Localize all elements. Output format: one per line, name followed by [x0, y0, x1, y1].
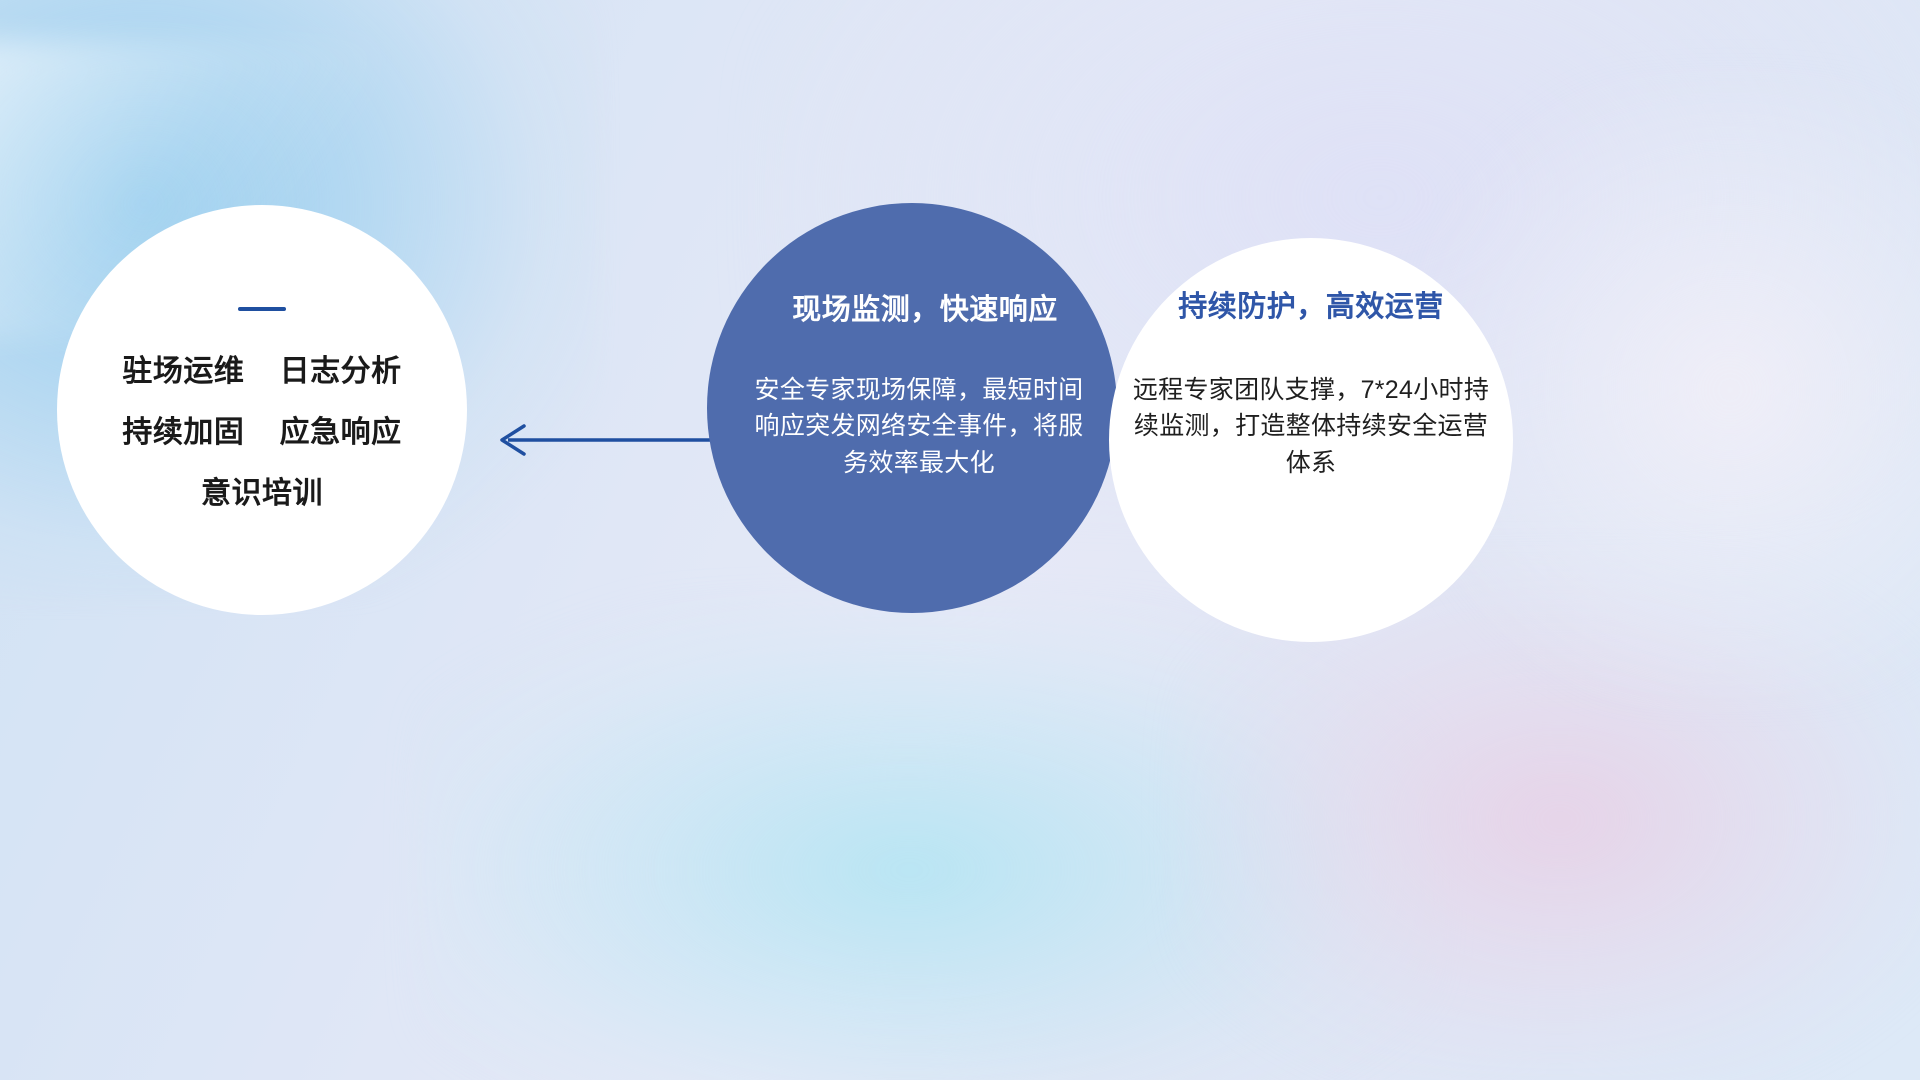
middle-circle-title: 现场监测，快速响应 — [755, 295, 1095, 327]
middle-onsite-circle: 现场监测，快速响应 安全专家现场保障，最短时间响应突发网络安全事件，将服务效率最… — [707, 203, 1117, 613]
slide-canvas: 驻场运维 日志分析 持续加固 应急响应 意识培训 现场监测，快速响应 安全专家现… — [0, 0, 1920, 1080]
right-circle-title: 持续防护，高效运营 — [1123, 292, 1499, 324]
right-circle-content: 持续防护，高效运营 远程专家团队支撑，7*24小时持续监测，打造整体持续安全运营… — [1109, 292, 1513, 481]
left-circle-line-1: 驻场运维 日志分析 — [79, 357, 445, 387]
left-capability-circle: 驻场运维 日志分析 持续加固 应急响应 意识培训 — [57, 205, 467, 615]
accent-rule-divider — [238, 307, 286, 311]
arrow-left-icon — [480, 416, 730, 464]
right-circle-body: 远程专家团队支撑，7*24小时持续监测，打造整体持续安全运营体系 — [1123, 372, 1499, 482]
left-circle-content: 驻场运维 日志分析 持续加固 应急响应 意识培训 — [57, 307, 467, 509]
middle-circle-body: 安全专家现场保障，最短时间响应突发网络安全事件，将服务效率最大化 — [743, 372, 1095, 482]
middle-circle-content: 现场监测，快速响应 安全专家现场保障，最短时间响应突发网络安全事件，将服务效率最… — [707, 295, 1117, 481]
left-circle-line-2: 持续加固 应急响应 — [79, 418, 445, 448]
left-circle-line-3: 意识培训 — [79, 479, 445, 509]
right-operations-circle: 持续防护，高效运营 远程专家团队支撑，7*24小时持续监测，打造整体持续安全运营… — [1109, 238, 1513, 642]
